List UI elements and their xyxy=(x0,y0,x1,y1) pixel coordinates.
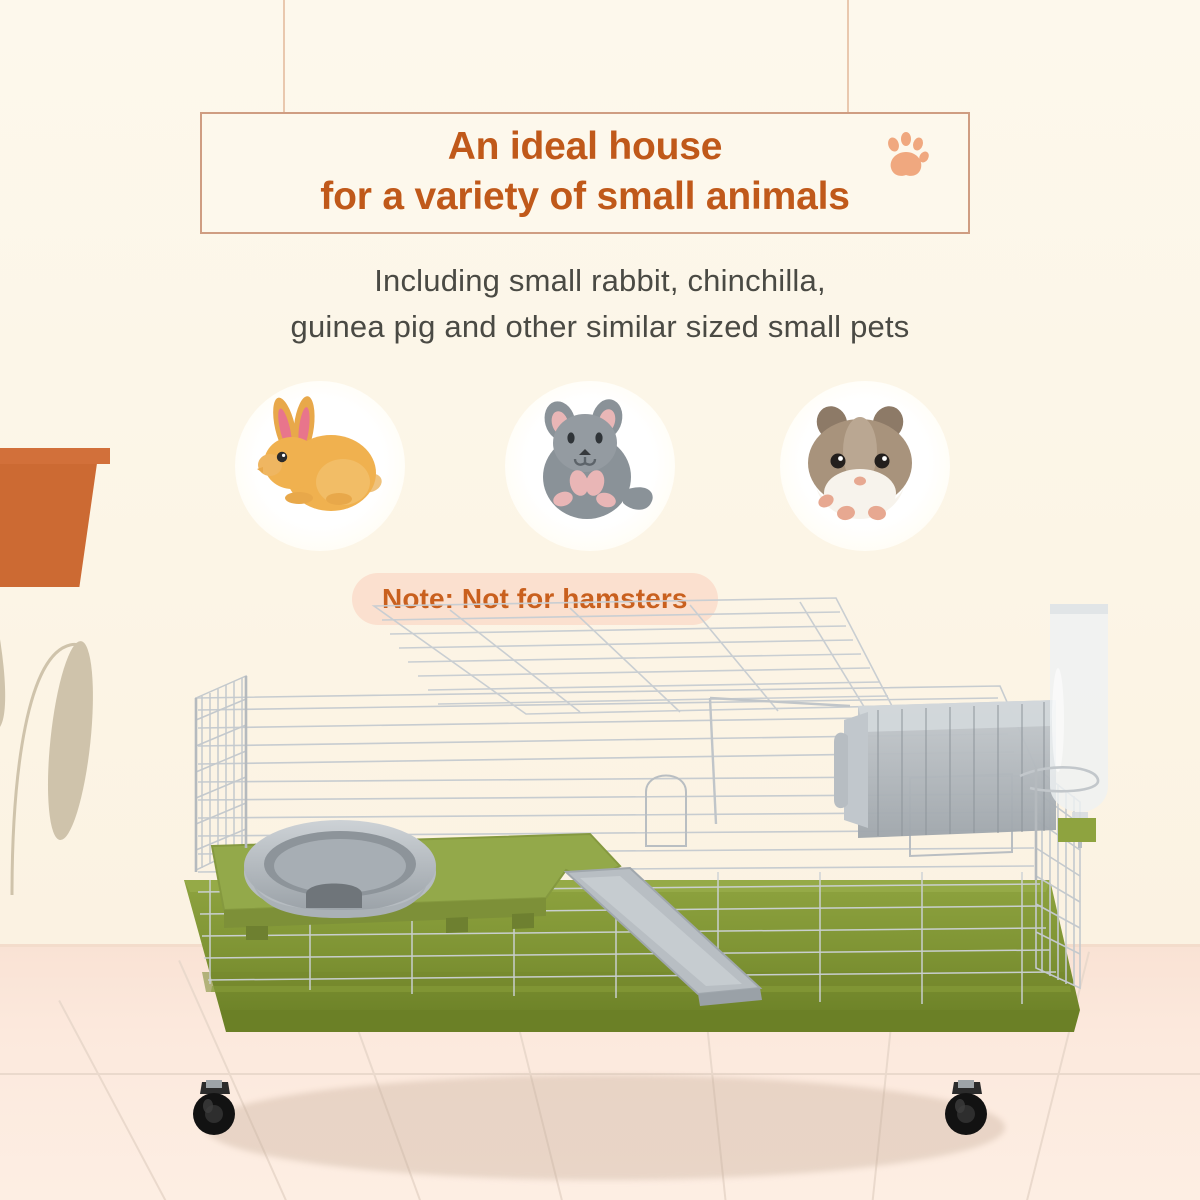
badge-rabbit xyxy=(235,381,405,551)
cage-small-arch-door xyxy=(646,776,686,847)
chinchilla-icon xyxy=(505,381,675,551)
cage-food-bowl xyxy=(244,820,436,918)
banner-hanging-string-left xyxy=(283,0,285,114)
subtitle-line-2: guinea pig and other similar sized small… xyxy=(0,304,1200,350)
cage-product-image xyxy=(150,580,1100,1160)
cage-hay-rack xyxy=(834,700,1056,838)
infographic-canvas: An ideal house for a variety of small an… xyxy=(0,0,1200,1200)
animal-badge-row xyxy=(0,376,1200,566)
cage-drawing xyxy=(150,580,1100,1160)
headline-line-2: for a variety of small animals xyxy=(228,172,942,222)
banner-hanging-string-right xyxy=(847,0,849,114)
subtitle-block: Including small rabbit, chinchilla, guin… xyxy=(0,258,1200,350)
paw-print-icon xyxy=(880,130,932,182)
badge-guinea-pig xyxy=(780,381,950,551)
headline-line-1: An ideal house xyxy=(228,122,942,172)
guinea-pig-icon xyxy=(780,381,950,551)
caster-wheel-left xyxy=(188,1080,240,1138)
cage-top-hatch xyxy=(374,598,892,714)
cage-left-end-panel xyxy=(196,676,246,870)
badge-chinchilla xyxy=(505,381,675,551)
headline-banner: An ideal house for a variety of small an… xyxy=(200,112,970,234)
cage-hay-rack-hanger xyxy=(710,698,850,824)
rabbit-icon xyxy=(235,381,405,551)
caster-wheel-right xyxy=(940,1080,992,1138)
subtitle-line-1: Including small rabbit, chinchilla, xyxy=(0,258,1200,304)
cage-bottle-clip xyxy=(1058,818,1096,842)
